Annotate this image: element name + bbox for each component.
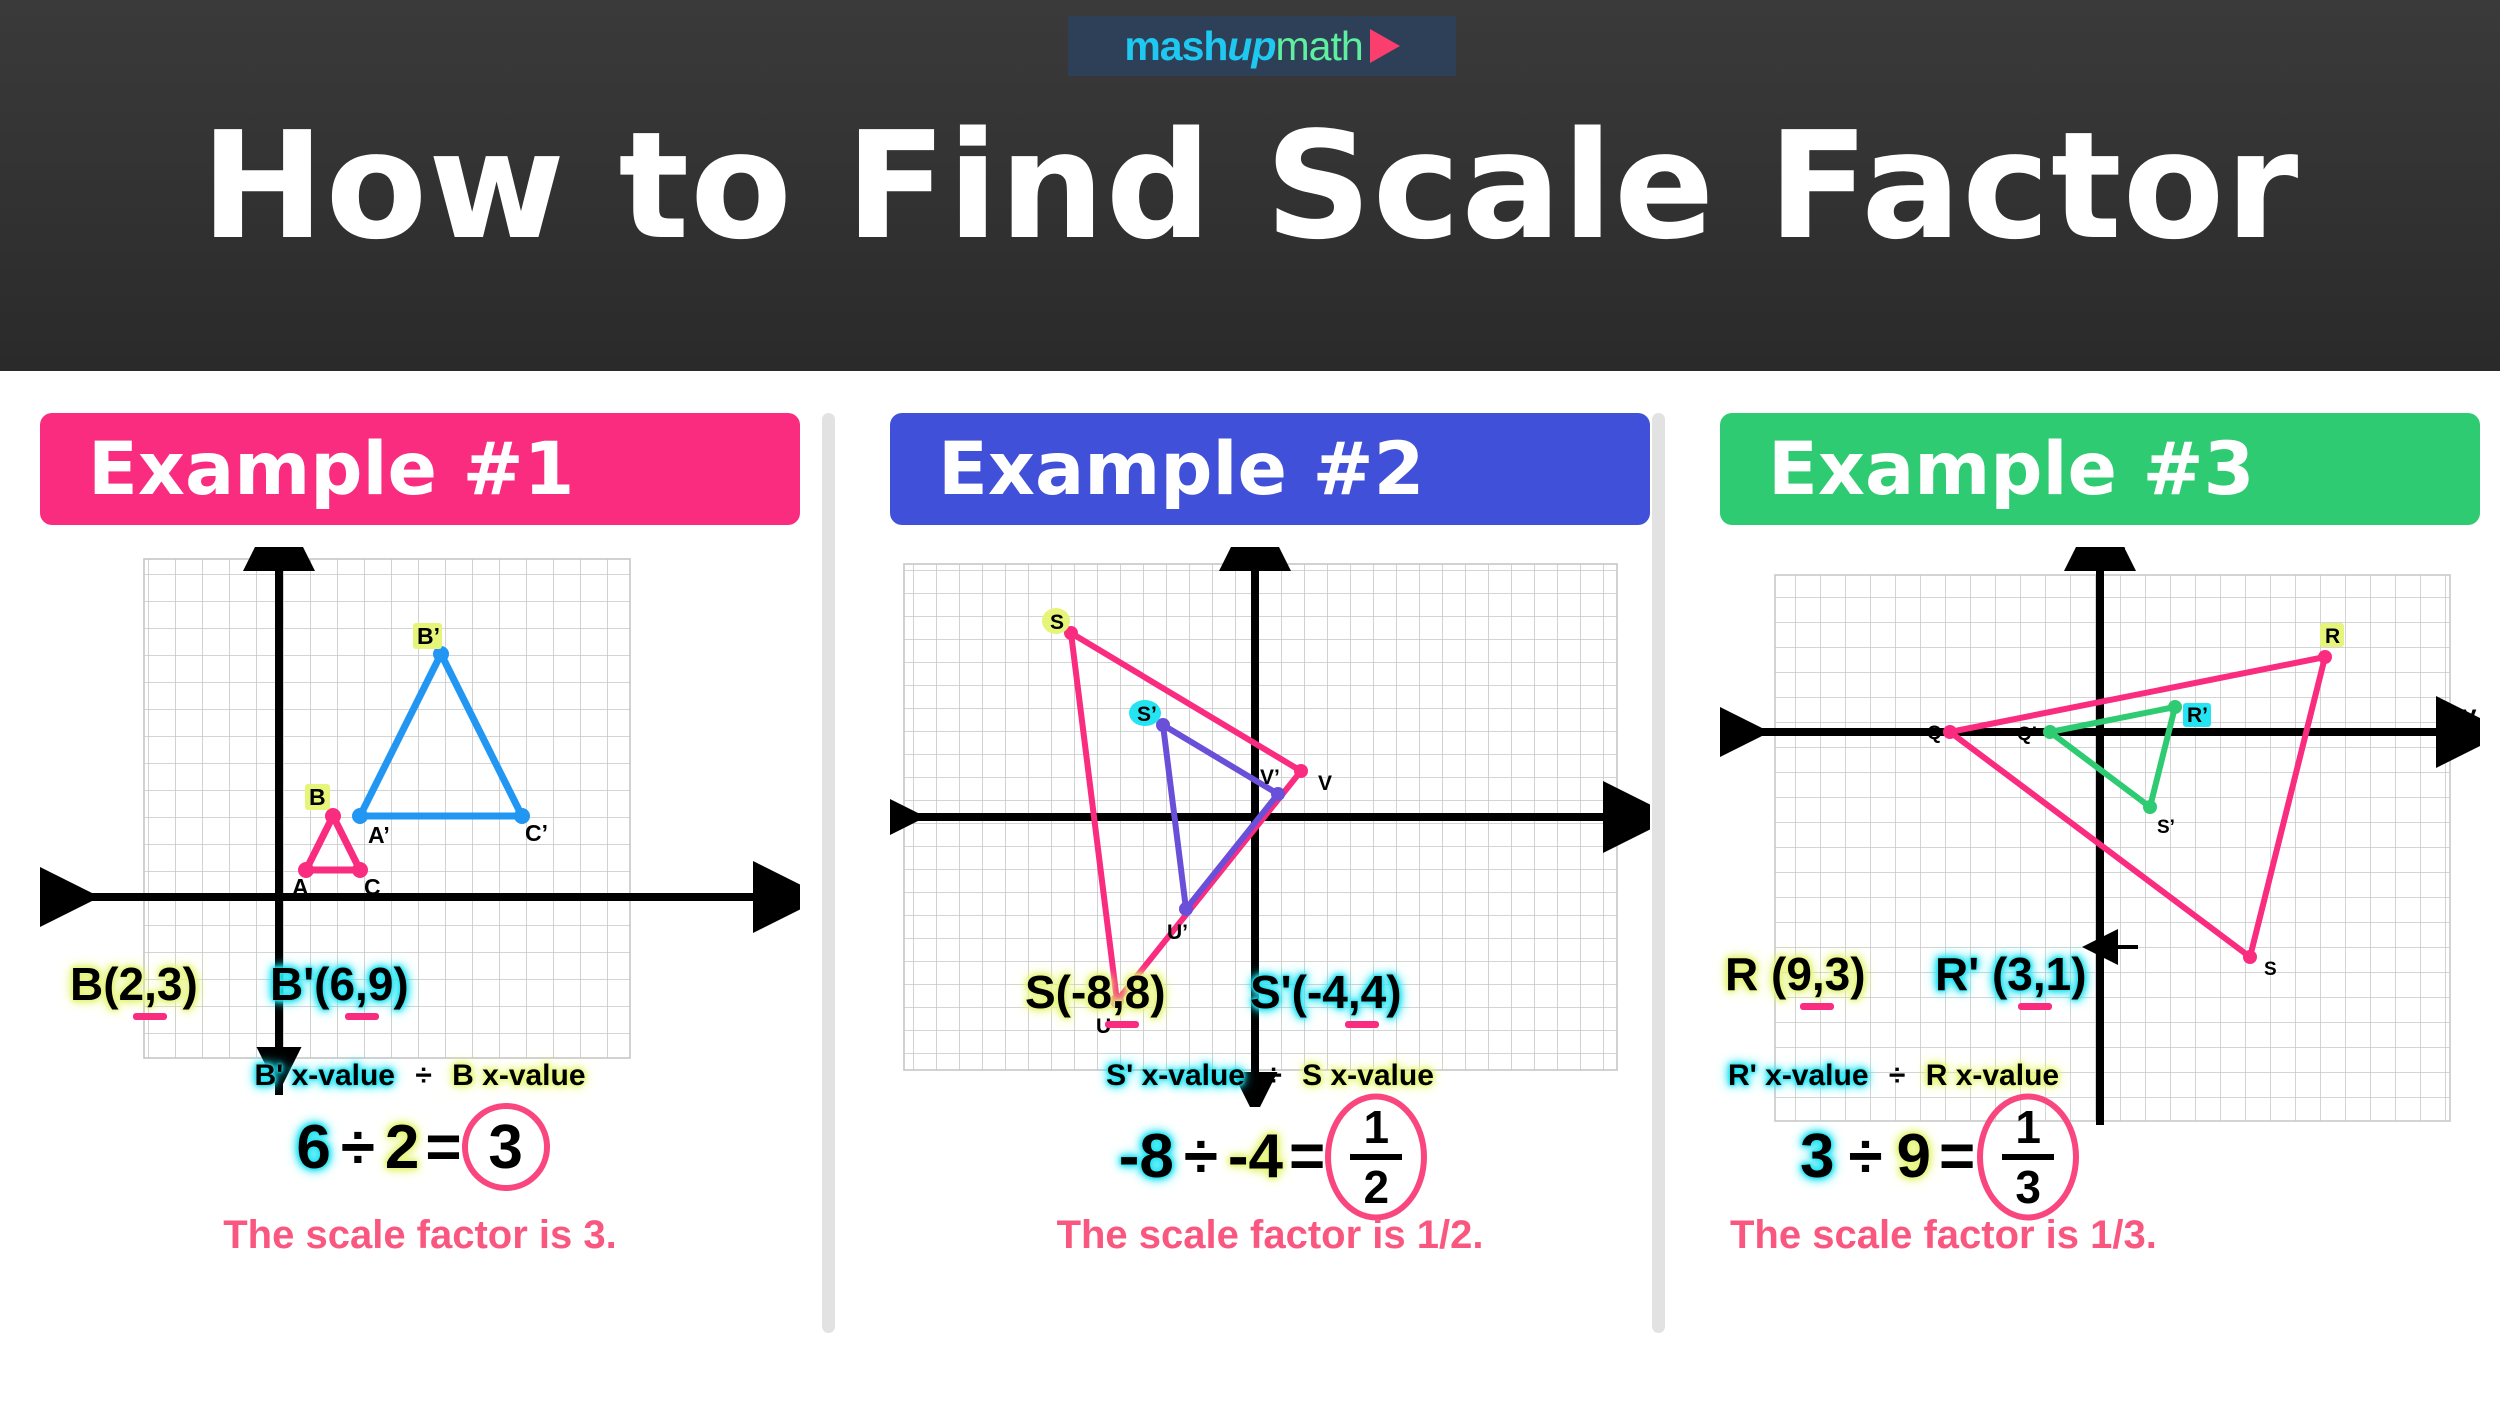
point-v-prime <box>1271 787 1285 801</box>
label-b-prime: B’ <box>417 623 440 649</box>
point-v <box>1294 764 1308 778</box>
label-a-prime: A’ <box>368 822 390 848</box>
formula-divide-icon-2: ÷ <box>1265 1059 1281 1092</box>
coord-image-3: R' (3,1) <box>1935 947 2087 1001</box>
coord-original-underline-2 <box>1102 1018 1142 1019</box>
calc-left-2: -8 <box>1119 1121 1174 1192</box>
label-v: V <box>1318 772 1332 795</box>
formula-divide-icon-3: ÷ <box>1889 1059 1905 1092</box>
fraction-denominator-3: 3 <box>2015 1164 2041 1210</box>
mashup-math-logo: mashupmath <box>1068 16 1456 76</box>
calculation-1: 6 ÷ 2 = 3 <box>40 1109 800 1185</box>
fraction-bar-2 <box>1350 1154 1402 1160</box>
example-panel-1: Example #1 x y <box>40 413 800 1373</box>
example-2-banner: Example #2 <box>890 413 1650 525</box>
calc-left-1: 6 <box>296 1112 330 1183</box>
label-v-prime: V’ <box>1260 766 1280 789</box>
formula-label-2: S' x-value ÷ S x-value <box>890 1059 1650 1093</box>
fraction-bar-3 <box>2002 1154 2054 1160</box>
example-3-graph: y y R R’ Q Q’ S S’ <box>1720 547 2480 1132</box>
x-axis-label-1: x <box>762 863 777 893</box>
calc-right-1: 2 <box>385 1112 419 1183</box>
point-s <box>2243 950 2257 964</box>
label-c: C <box>364 874 381 900</box>
calc-answer-1: 3 <box>468 1109 544 1185</box>
example-panel-2: Example #2 x y <box>890 413 1650 1373</box>
calc-divide-icon-3: ÷ <box>1848 1121 1882 1192</box>
logo-up-text: up <box>1227 23 1275 69</box>
header-banner: mashupmath How to Find Scale Factor <box>0 0 2500 371</box>
coord-original-text-2: S(-8,8) <box>1025 965 1166 1019</box>
coord-original-underline-3 <box>1797 1000 1837 1001</box>
coord-image-text-3: R' (3,1) <box>1935 947 2087 1001</box>
calc-right-2: -4 <box>1228 1121 1283 1192</box>
point-r <box>2318 650 2332 664</box>
formula-label-1: B' x-value ÷ B x-value <box>40 1059 800 1093</box>
calc-answer-2: 1 2 <box>1331 1099 1421 1214</box>
play-triangle-icon <box>1370 29 1400 63</box>
x-axis-label-3: y <box>2462 699 2477 729</box>
example-1-banner: Example #1 <box>40 413 800 525</box>
graph-svg-3: y y R R’ Q Q’ S S’ <box>1720 547 2480 1127</box>
page-title: How to Find Scale Factor <box>0 100 2500 272</box>
calc-left-3: 3 <box>1800 1121 1834 1192</box>
coord-image-1: B'(6,9) <box>270 957 409 1011</box>
coord-image-2: S'(-4,4) <box>1250 965 1402 1019</box>
label-s: S <box>1050 611 1064 634</box>
point-u-prime <box>1179 902 1193 916</box>
panel-divider-1 <box>822 413 835 1333</box>
logo-mash-text: mash <box>1124 23 1227 69</box>
fraction-numerator-3: 1 <box>2015 1104 2041 1150</box>
infographic-page: mashupmath How to Find Scale Factor Exam… <box>0 0 2500 1406</box>
fraction-3: 1 3 <box>1996 1104 2060 1210</box>
coord-image-underline-3 <box>2015 1000 2055 1001</box>
label-r: R <box>2325 625 2340 648</box>
calc-answer-3: 1 3 <box>1983 1099 2073 1214</box>
label-c-prime: C’ <box>525 820 548 846</box>
logo-math-text: math <box>1276 23 1363 69</box>
y-axis-label-2: y <box>1266 547 1281 561</box>
coord-image-text-1: B'(6,9) <box>270 957 409 1011</box>
scale-result-3: The scale factor is 1/3. <box>1720 1213 2480 1258</box>
calc-answer-text-1: 3 <box>488 1112 522 1183</box>
coord-image-underline-1 <box>342 1010 382 1011</box>
example-panel-3: Example #3 y y <box>1720 413 2480 1373</box>
coord-original-text-1: B(2,3) <box>70 957 198 1011</box>
label-s-3: S <box>2264 959 2277 980</box>
formula-left-2: S' x-value <box>1106 1059 1245 1092</box>
label-a: A <box>292 874 309 900</box>
coord-original-text-3: R (9,3) <box>1725 947 1866 1001</box>
coord-image-text-2: S'(-4,4) <box>1250 965 1402 1019</box>
formula-label-3: R' x-value ÷ R x-value <box>1720 1059 2480 1093</box>
y-axis-label-1: y <box>290 547 305 559</box>
coord-original-underline-1 <box>130 1010 170 1011</box>
coord-original-3: R (9,3) <box>1725 947 1866 1001</box>
y-axis-label-3: y <box>2111 547 2126 567</box>
calc-equals-1: = <box>425 1112 461 1183</box>
formula-right-3: R x-value <box>1926 1059 2059 1092</box>
calc-equals-3: = <box>1939 1121 1975 1192</box>
formula-left-1: B' x-value <box>254 1059 395 1092</box>
label-q-prime: Q’ <box>2017 724 2037 745</box>
label-b: B <box>309 784 326 810</box>
label-q: Q <box>1927 723 1942 744</box>
calculation-3: 3 ÷ 9 = 1 3 <box>1720 1099 2480 1214</box>
fraction-numerator-2: 1 <box>1363 1104 1389 1150</box>
formula-left-3: R' x-value <box>1728 1059 1869 1092</box>
scale-result-1: The scale factor is 3. <box>40 1213 800 1258</box>
calc-right-3: 9 <box>1897 1121 1931 1192</box>
coord-original-1: B(2,3) <box>70 957 198 1011</box>
formula-right-1: B x-value <box>452 1059 585 1092</box>
point-q <box>1943 725 1957 739</box>
coord-original-2: S(-8,8) <box>1025 965 1166 1019</box>
formula-divide-icon-1: ÷ <box>415 1059 431 1092</box>
formula-right-2: S x-value <box>1302 1059 1434 1092</box>
scale-result-2: The scale factor is 1/2. <box>890 1213 1650 1258</box>
example-2-graph: x y S S’ U U’ V V’ <box>890 547 1650 1112</box>
graph-svg-1: x y B B’ A C A’ C’ <box>40 547 800 1107</box>
coord-image-underline-2 <box>1342 1018 1382 1019</box>
fraction-2: 1 2 <box>1344 1104 1408 1210</box>
point-a-prime <box>352 808 368 824</box>
point-b <box>325 808 341 824</box>
graph-svg-2: x y S S’ U U’ V V’ <box>890 547 1650 1107</box>
point-q-prime <box>2043 725 2057 739</box>
example-1-graph: x y B B’ A C A’ C’ <box>40 547 800 1112</box>
calc-equals-2: = <box>1289 1121 1325 1192</box>
calculation-2: -8 ÷ -4 = 1 2 <box>890 1099 1650 1214</box>
label-s-prime-3: S’ <box>2157 817 2175 838</box>
calc-divide-icon-2: ÷ <box>1184 1121 1218 1192</box>
label-s-prime: S’ <box>1137 703 1157 726</box>
panel-divider-2 <box>1652 413 1665 1333</box>
point-r-prime <box>2168 700 2182 714</box>
fraction-denominator-2: 2 <box>1363 1164 1389 1210</box>
x-axis-label-2: x <box>1612 785 1627 815</box>
point-s-prime <box>2143 800 2157 814</box>
label-u-prime: U’ <box>1167 921 1188 944</box>
calc-divide-icon-1: ÷ <box>341 1112 375 1183</box>
label-r-prime: R’ <box>2187 704 2208 727</box>
example-3-banner: Example #3 <box>1720 413 2480 525</box>
